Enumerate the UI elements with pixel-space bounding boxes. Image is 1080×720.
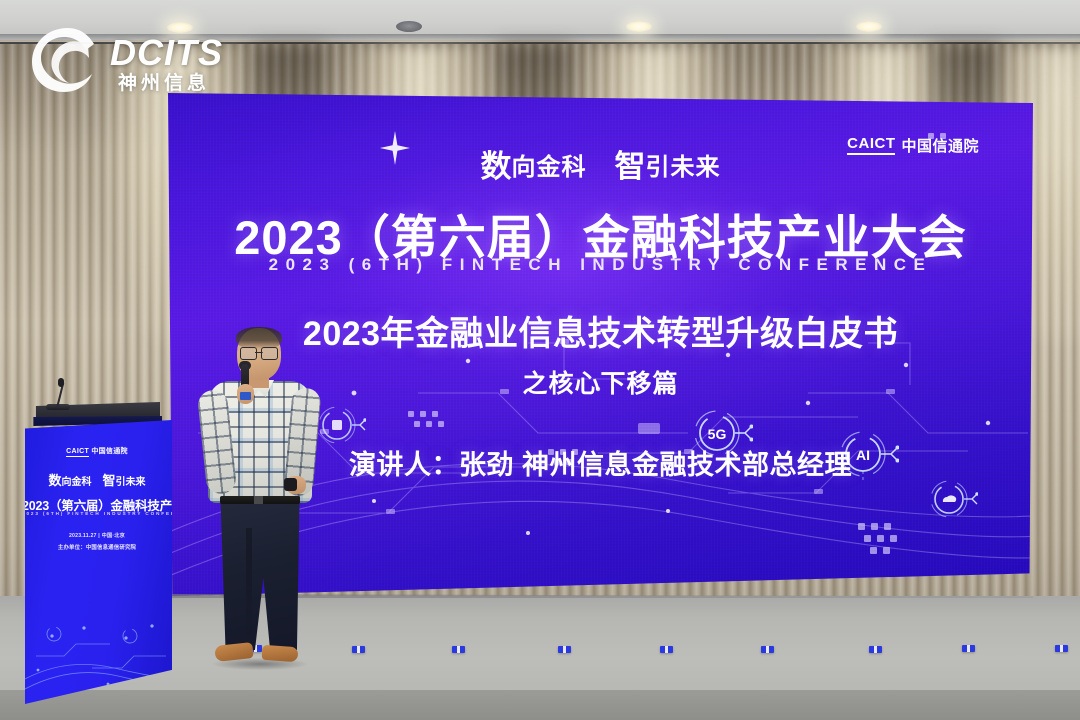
podium-tagline: 数向金科智引未来 [22, 470, 172, 490]
speaking-podium: CAICT 中国信通院 数向金科智引未来 2023（第六届）金融科技产业大会 2… [22, 420, 172, 704]
cloud-node-badge-icon [930, 477, 978, 521]
tagline-rest-1: 向金科 [512, 154, 587, 181]
presenter-trousers [218, 500, 302, 650]
floor-marker [761, 646, 774, 653]
presenter-belt-buckle [254, 496, 263, 504]
dcits-watermark: DCITS 神州信息 [24, 16, 239, 94]
presenter-person [196, 328, 326, 676]
floor-marker [558, 646, 571, 653]
podium-tagline-rest-2: 引未来 [116, 477, 146, 488]
podium-conference-title-en: 2023 (6TH) FINTECH INDUSTRY CONFERENCE [22, 511, 172, 516]
podium-host-organization: 主办单位：中国信息通信研究院 [22, 543, 172, 551]
podium-date-location: 2023.11.27 | 中国·北京 [22, 532, 172, 539]
podium-tagline-rest-1: 向金科 [62, 477, 92, 488]
spotlight-3 [626, 21, 652, 32]
tagline-rest-2: 引未来 [646, 154, 721, 181]
floor-marker [352, 646, 365, 653]
presenter-hair [236, 327, 282, 349]
eyeglasses-icon [240, 347, 278, 358]
stage-floor-front [0, 690, 1080, 720]
tagline-char-zhi: 智 [615, 149, 646, 184]
svg-text:5G: 5G [708, 426, 727, 442]
presenter-leg-shading [246, 528, 252, 646]
microphone-capsule-icon [58, 378, 64, 387]
conference-title-en: 2023 (6TH) FINTECH INDUSTRY CONFERENCE [168, 255, 1033, 275]
spotlight-4 [856, 21, 882, 32]
event-tagline: 数向金科智引未来 [168, 141, 1033, 186]
dcits-brand-cn: 神州信息 [118, 68, 210, 95]
tagline-char-shu: 数 [481, 149, 512, 184]
conference-stage-photo: CAICT 中国信通院 数向金科智引未来 2023（第六届）金融科技产业大会 2… [0, 0, 1080, 720]
floor-marker [660, 646, 673, 653]
podium-tagline-char-2: 智 [103, 473, 116, 488]
podium-caict-logo-icon: CAICT 中国信通院 [22, 446, 172, 456]
floor-marker [452, 646, 465, 653]
presenter-shoe-right [262, 645, 299, 662]
floor-marker [962, 645, 975, 652]
microphone-flag-tag [240, 392, 251, 400]
floor-marker [1055, 645, 1068, 652]
podium-caict-mark: CAICT [66, 448, 89, 457]
dcits-swirl-logo-icon [28, 24, 108, 96]
floor-marker [869, 646, 882, 653]
spotlight-2 [396, 21, 422, 32]
podium-caict-name: 中国信通院 [91, 448, 128, 455]
podium-tagline-char-1: 数 [48, 473, 61, 488]
presentation-clicker-icon [284, 478, 297, 491]
